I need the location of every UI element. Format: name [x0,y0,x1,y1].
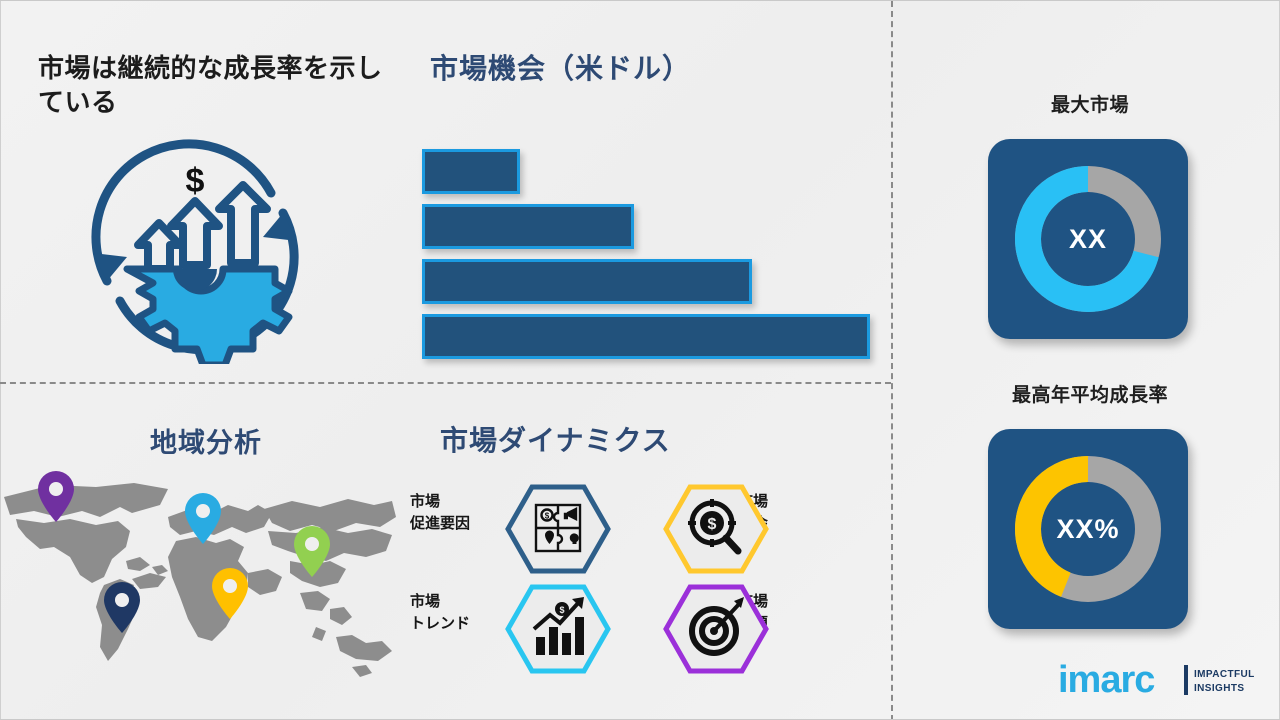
world-map [0,461,400,706]
svg-text:$: $ [545,512,550,521]
dynamics-item-drivers[interactable]: 市場促進要因 $ [400,481,620,577]
dynamics-item-trends[interactable]: 市場トレンド $ [400,581,620,677]
dollar-symbol: $ [186,162,205,200]
highest-cagr-card: XX% [988,429,1188,629]
dynamics-label-drivers: 市場促進要因 [410,491,506,535]
market-dynamics-grid: 市場促進要因 $ 市場機会 [400,481,840,681]
largest-market-title: 最大市場 [940,93,1240,118]
bar-row-2 [422,204,634,249]
largest-market-donut [1010,161,1166,317]
imarc-logo: imarc IMPACTFUL INSIGHTS [1058,659,1258,705]
svg-text:$: $ [708,516,717,533]
logo-wordmark: imarc [1058,661,1154,699]
opportunity-panel-title: 市場機会（米ドル） [430,51,830,87]
hexagon-challenges [662,581,770,677]
logo-tagline: IMPACTFUL INSIGHTS [1194,668,1255,695]
hexagon-opportunities: $ [662,481,770,577]
largest-market-card: XX [988,139,1188,339]
bar-row-3 [422,259,752,304]
svg-text:$: $ [559,605,564,615]
logo-tagline-line-2: INSIGHTS [1194,682,1255,696]
bar-row-1 [422,149,520,194]
highest-cagr-title: 最高年平均成長率 [930,383,1250,408]
dynamics-label-trends: 市場トレンド [410,591,506,635]
bar-row-4 [422,314,870,359]
hexagon-trends: $ [504,581,612,677]
growth-panel-title: 市場は継続的な成長率を示している [38,51,398,120]
dynamics-panel-title: 市場ダイナミクス [440,423,840,459]
hexagon-drivers: $ [504,481,612,577]
slide-canvas: 市場は継続的な成長率を示している $ 市場機会（米ドル） 地域分析 [0,0,1280,720]
pin-europe[interactable] [185,493,221,544]
circular-growth-gear-icon: $ [75,129,315,364]
highest-cagr-donut [1010,451,1166,607]
vertical-dashed-divider [891,1,893,720]
regional-panel-title: 地域分析 [150,426,450,461]
logo-separator-bar [1184,665,1188,695]
dynamics-item-opportunities[interactable]: 市場機会 $ [620,481,840,577]
horizontal-dashed-divider [0,382,891,384]
market-opportunity-bar-chart [419,146,889,356]
logo-tagline-line-1: IMPACTFUL [1194,668,1255,682]
dynamics-item-challenges[interactable]: 市場課題 [620,581,840,677]
